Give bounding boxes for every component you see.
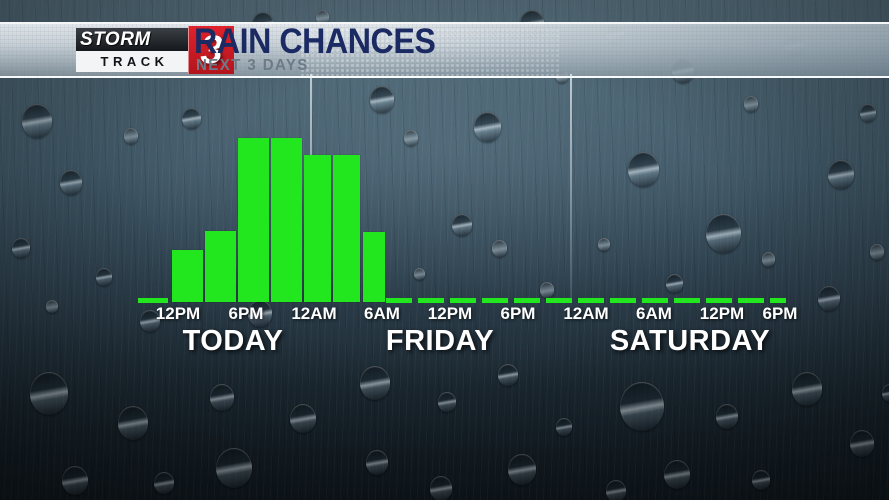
day-label: TODAY — [183, 326, 284, 356]
baseline-segment — [546, 298, 572, 303]
page-title: RAIN CHANCES — [194, 24, 435, 59]
baseline-segment — [418, 298, 444, 303]
water-droplet — [620, 382, 664, 431]
time-tick-label: 6PM — [229, 305, 264, 322]
baseline-segment — [610, 298, 636, 303]
water-droplet — [360, 366, 390, 400]
chart-bar — [363, 232, 385, 302]
baseline-segment — [770, 298, 786, 303]
water-droplet — [210, 384, 234, 411]
water-droplet — [30, 372, 68, 415]
water-droplet — [752, 470, 770, 490]
water-droplet — [62, 466, 88, 495]
baseline-segment — [706, 298, 732, 303]
time-tick-label: 12PM — [156, 305, 200, 322]
water-droplet — [498, 364, 518, 386]
water-droplet — [664, 460, 690, 489]
time-tick-label: 6PM — [763, 305, 798, 322]
water-droplet — [792, 372, 822, 406]
time-tick-label: 6AM — [636, 305, 672, 322]
baseline-segment — [738, 298, 764, 303]
weather-graphic: STORM TRACK 3 RAIN CHANCES NEXT 3 DAYS 1… — [0, 0, 889, 500]
water-droplet — [850, 430, 874, 457]
logo-track-text: TRACK — [76, 51, 193, 72]
day-label: SATURDAY — [610, 326, 770, 356]
water-droplet — [606, 480, 626, 500]
water-droplet — [290, 404, 316, 433]
baseline-segment — [138, 298, 168, 303]
chart-bar — [172, 250, 203, 302]
water-droplet — [430, 476, 452, 500]
baseline-segment — [482, 298, 508, 303]
water-droplet — [556, 418, 572, 436]
baseline-segment — [514, 298, 540, 303]
water-droplet — [508, 454, 536, 485]
chart-bar — [238, 138, 269, 302]
chart-bar — [304, 155, 331, 302]
water-droplet — [366, 450, 388, 475]
baseline-segment — [386, 298, 412, 303]
baseline-segment — [578, 298, 604, 303]
water-droplet — [216, 448, 252, 488]
water-droplet — [716, 404, 738, 429]
baseline-segment — [450, 298, 476, 303]
water-droplet — [118, 406, 148, 440]
day-label: FRIDAY — [386, 326, 494, 356]
page-subtitle: NEXT 3 DAYS — [196, 58, 309, 74]
baseline-segment — [642, 298, 668, 303]
chart-bar — [205, 231, 236, 302]
storm-track-logo: STORM TRACK — [76, 28, 193, 72]
water-droplet — [882, 384, 889, 402]
time-tick-label: 12AM — [563, 305, 608, 322]
day-divider-line — [570, 74, 572, 300]
water-droplet — [438, 392, 456, 412]
chart-bar — [271, 138, 302, 302]
baseline-segment — [674, 298, 700, 303]
time-tick-label: 6PM — [501, 305, 536, 322]
chart-bar — [333, 155, 360, 302]
time-tick-label: 12AM — [291, 305, 336, 322]
time-tick-label: 12PM — [700, 305, 744, 322]
water-droplet — [154, 472, 174, 494]
time-tick-label: 12PM — [428, 305, 472, 322]
time-tick-label: 6AM — [364, 305, 400, 322]
logo-storm-text: STORM — [76, 28, 193, 51]
